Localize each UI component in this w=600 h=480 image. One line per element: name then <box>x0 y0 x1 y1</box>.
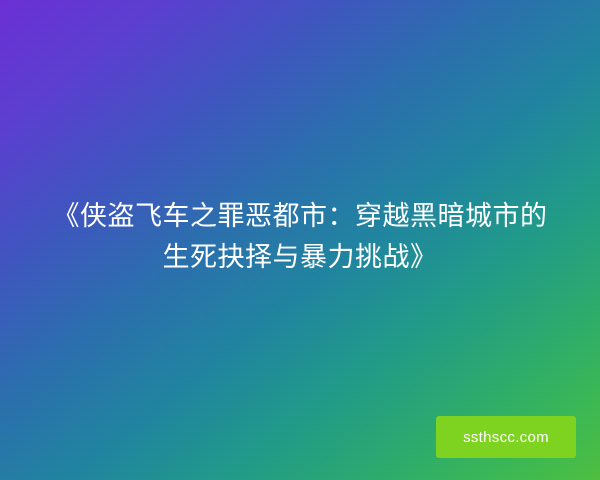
watermark-label: ssthscc.com <box>463 429 549 446</box>
title-line-1: 《侠盗飞车之罪恶都市：穿越黑暗城市的 <box>28 196 572 237</box>
poster-background: 《侠盗飞车之罪恶都市：穿越黑暗城市的 生死抉择与暴力挑战》 ssthscc.co… <box>0 0 600 480</box>
poster-title: 《侠盗飞车之罪恶都市：穿越黑暗城市的 生死抉择与暴力挑战》 <box>0 196 600 278</box>
watermark-badge: ssthscc.com <box>436 416 576 458</box>
title-line-2: 生死抉择与暴力挑战》 <box>28 237 572 278</box>
